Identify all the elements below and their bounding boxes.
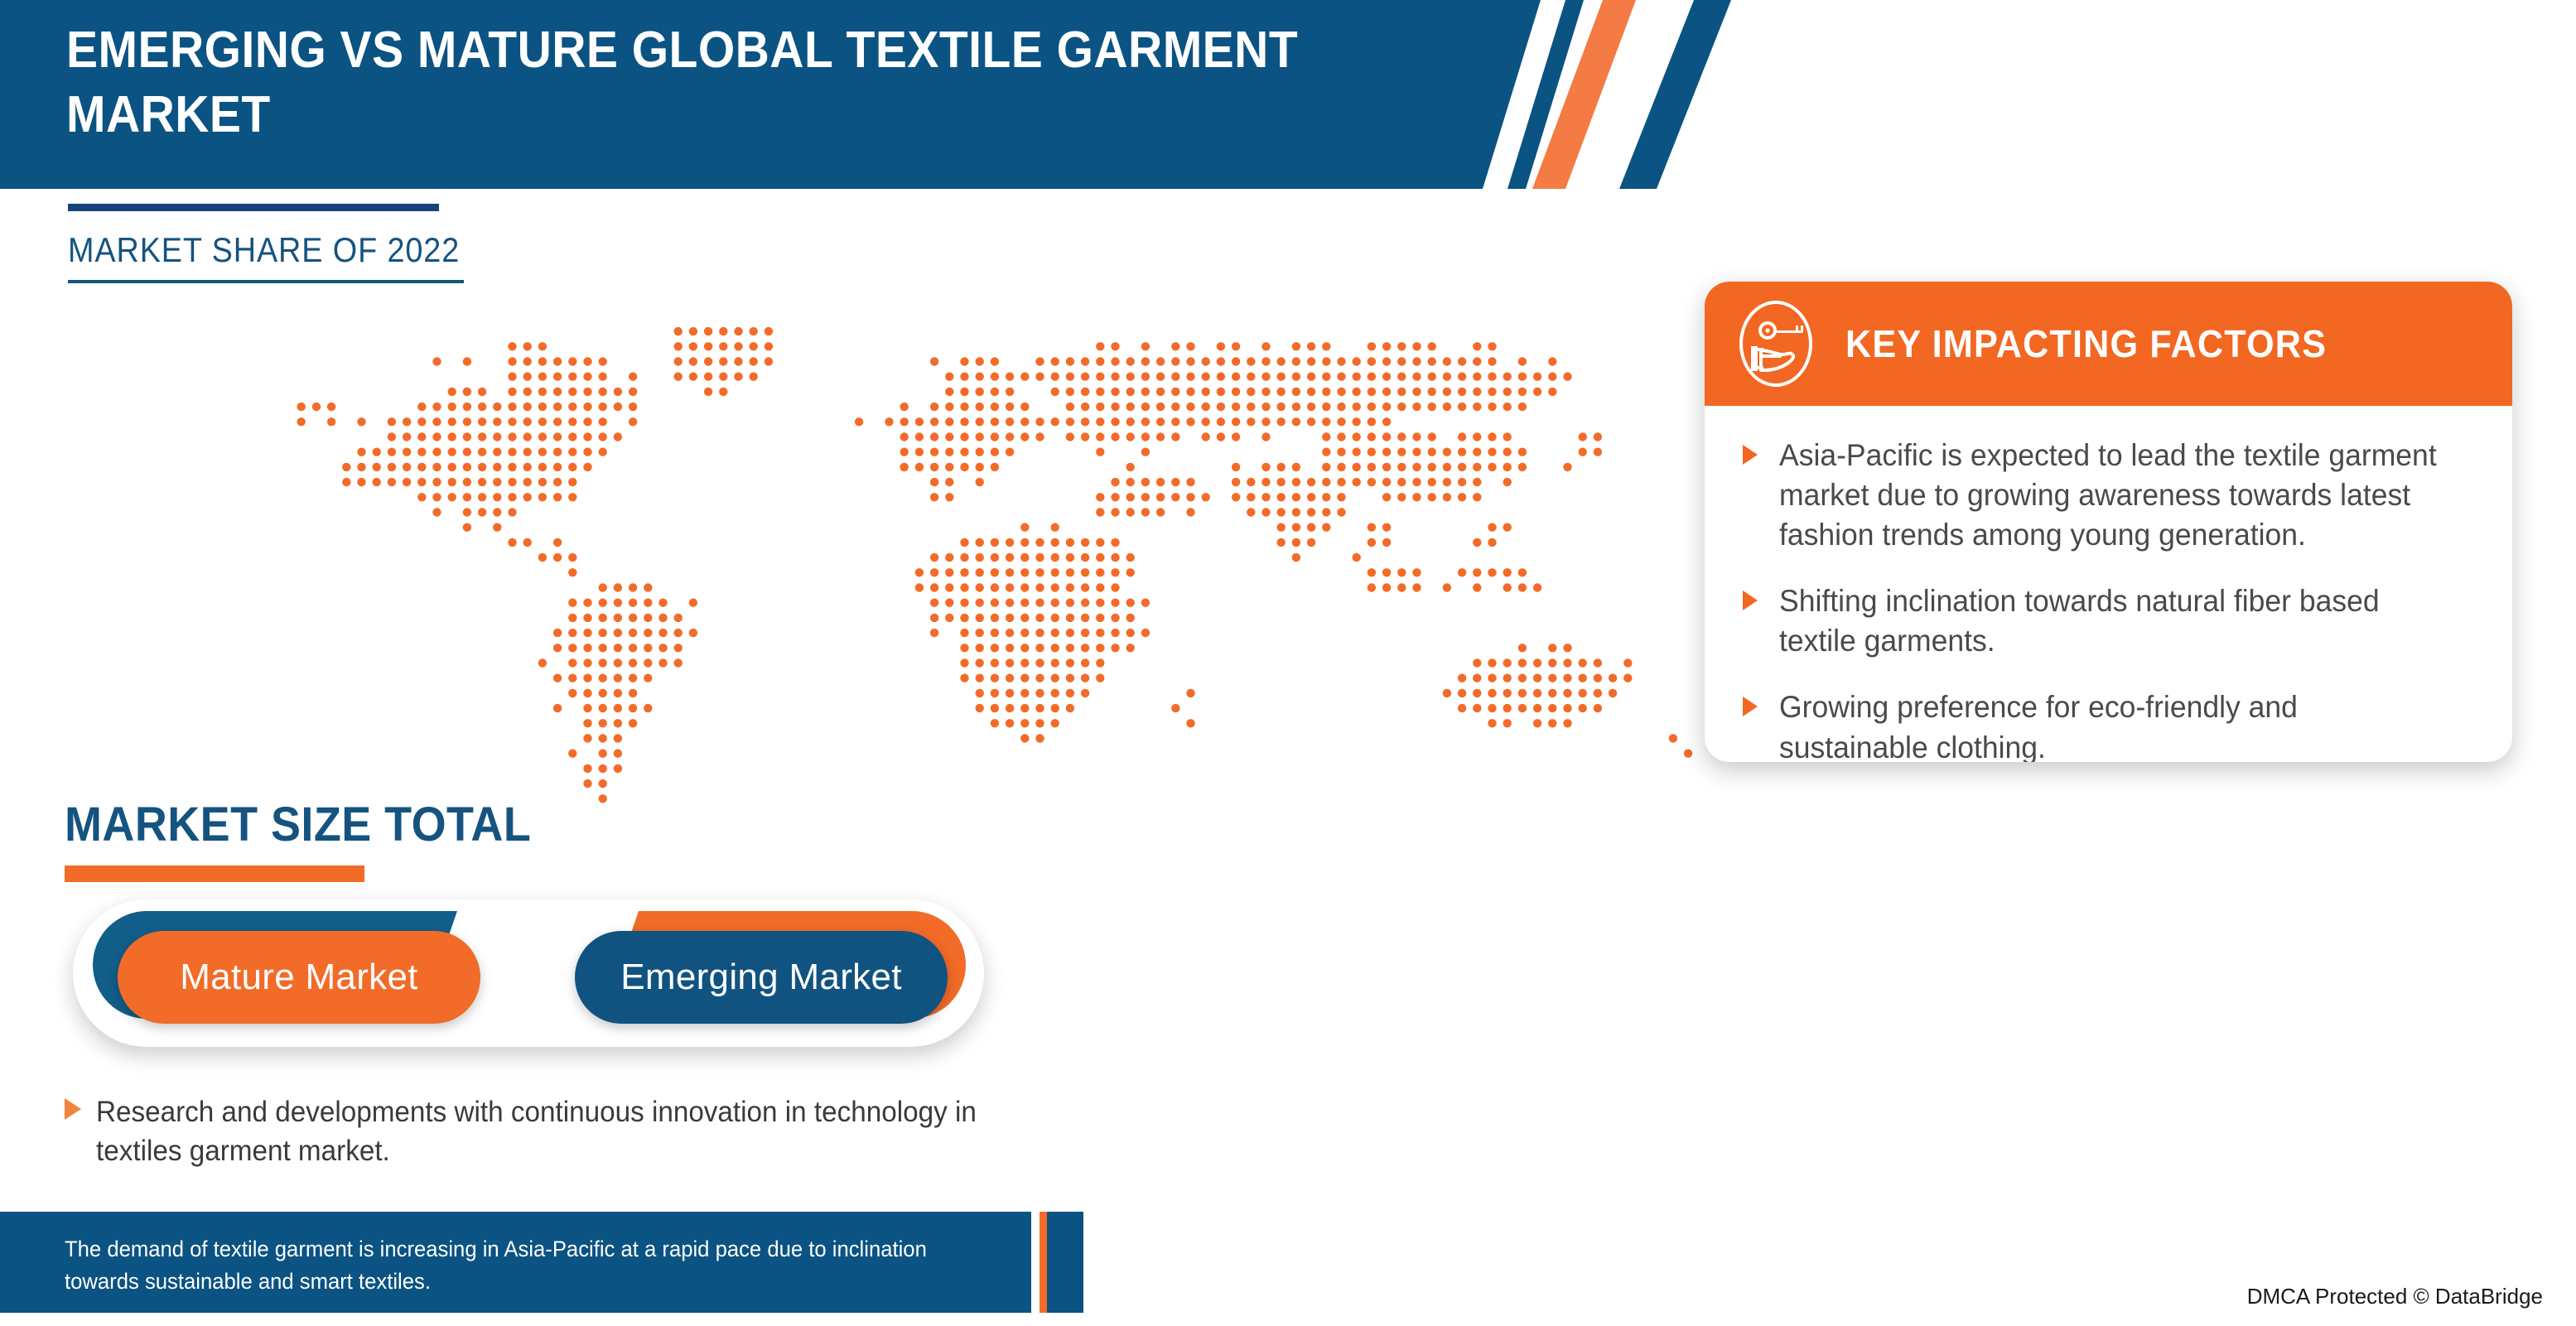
- market-share-label: MARKET SHARE OF 2022: [68, 230, 460, 270]
- diagonal-stripe-blue-2-icon: [1615, 0, 1748, 189]
- left-bullet-item: Research and developments with continuou…: [65, 1093, 1100, 1171]
- market-share-underline: [68, 280, 464, 283]
- market-size-block: MARKET SIZE TOTAL: [65, 797, 567, 882]
- mature-market-label: Mature Market: [180, 957, 418, 998]
- key-bullet-2: Shifting inclination towards natural fib…: [1743, 581, 2474, 661]
- key-bullet-text-1: Asia-Pacific is expected to lead the tex…: [1779, 436, 2446, 555]
- legend-item-mature-market[interactable]: Mature Market: [73, 899, 520, 1047]
- footer-tail-block: [1047, 1212, 1083, 1313]
- key-panel-header: KEY IMPACTING FACTORS: [1705, 282, 2512, 406]
- triangle-right-icon-1: [1743, 445, 1758, 465]
- dotted-world-map: [248, 248, 1723, 861]
- emerging-market-pill[interactable]: Emerging Market: [575, 931, 948, 1024]
- key-impacting-factors-panel: KEY IMPACTING FACTORS Asia-Pacific is ex…: [1705, 282, 2512, 762]
- triangle-right-icon-3: [1743, 697, 1758, 716]
- footer-divider-orange: [1040, 1212, 1047, 1313]
- legend-item-emerging-market[interactable]: Emerging Market: [528, 899, 984, 1047]
- key-bullet-text-2: Shifting inclination towards natural fib…: [1779, 581, 2446, 661]
- market-size-underline: [65, 866, 364, 882]
- market-size-title: MARKET SIZE TOTAL: [65, 797, 531, 852]
- world-map-icon: [248, 248, 1723, 861]
- emerging-market-label: Emerging Market: [620, 957, 902, 998]
- footer-text: The demand of textile garment is increas…: [65, 1233, 946, 1298]
- left-bullet-text: Research and developments with continuou…: [96, 1093, 1049, 1171]
- triangle-right-icon-2: [1743, 591, 1758, 610]
- key-panel-body: Asia-Pacific is expected to lead the tex…: [1705, 406, 2512, 762]
- page-title: EMERGING VS MATURE GLOBAL TEXTILE GARMEN…: [66, 18, 1331, 147]
- key-bullet-1: Asia-Pacific is expected to lead the tex…: [1743, 436, 2474, 555]
- hand-holding-key-icon: [1736, 298, 1816, 389]
- key-bullet-text-3: Growing preference for eco-friendly and …: [1779, 687, 2446, 762]
- market-share-block: MARKET SHARE OF 2022: [68, 230, 504, 283]
- legend-card: Mature Market Emerging Market: [73, 899, 984, 1047]
- footer-bar: The demand of textile garment is increas…: [0, 1212, 1031, 1313]
- mature-market-pill[interactable]: Mature Market: [118, 931, 480, 1024]
- dmca-credit: DMCA Protected © DataBridge: [2247, 1284, 2543, 1309]
- triangle-right-icon: [65, 1098, 81, 1120]
- header-accent-line: [68, 204, 439, 211]
- key-bullet-3: Growing preference for eco-friendly and …: [1743, 687, 2474, 762]
- key-panel-title: KEY IMPACTING FACTORS: [1845, 321, 2327, 366]
